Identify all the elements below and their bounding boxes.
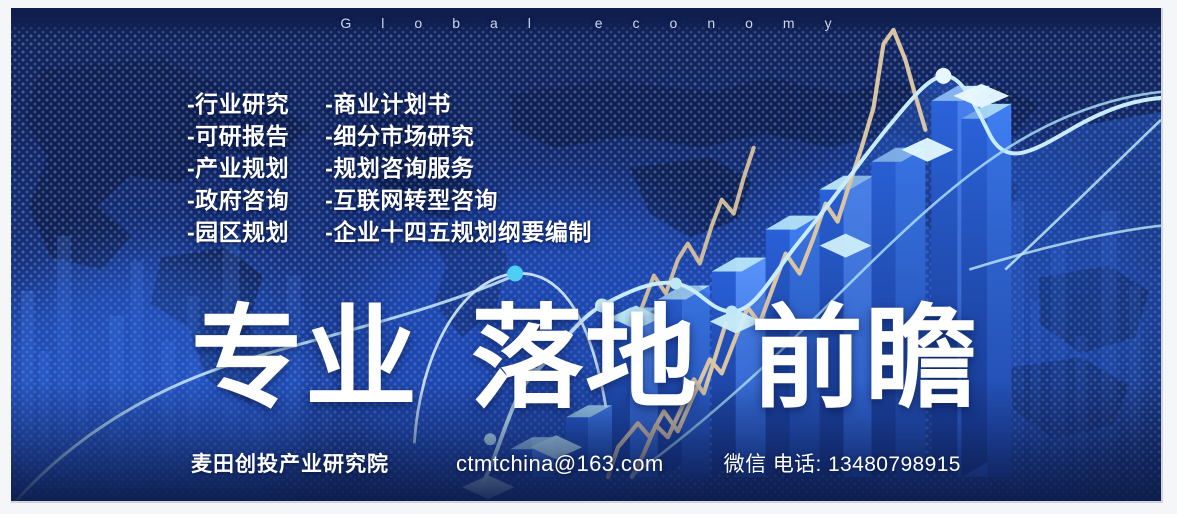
email-address: ctmtchina@163.com (456, 451, 664, 477)
headline-word: 落地 (471, 300, 699, 418)
service-item: -政府咨询 (187, 186, 289, 215)
service-item: -产业规划 (187, 154, 289, 183)
service-item: -园区规划 (187, 218, 289, 247)
service-item: -行业研究 (187, 90, 289, 119)
promotional-banner: Global economy -行业研究 -可研报告 -产业规划 -政府咨询 -… (11, 8, 1163, 503)
service-list-right: -商业计划书 -细分市场研究 -规划咨询服务 -互联网转型咨询 -企业十四五规划… (325, 90, 592, 247)
screenshot-canvas: Global economy -行业研究 -可研报告 -产业规划 -政府咨询 -… (0, 0, 1177, 514)
organization-name: 麦田创投产业研究院 (191, 448, 389, 478)
footer-contact-row: 麦田创投产业研究院 ctmtchina@163.com 微信 电话: 13480… (191, 448, 961, 478)
service-item: -商业计划书 (325, 90, 592, 119)
arc-node-dot (507, 266, 523, 282)
service-item: -细分市场研究 (325, 122, 592, 151)
top-label: Global economy (11, 15, 1161, 37)
service-item: -可研报告 (187, 122, 289, 151)
service-list-left: -行业研究 -可研报告 -产业规划 -政府咨询 -园区规划 (187, 90, 289, 247)
service-item: -企业十四五规划纲要编制 (325, 218, 592, 247)
service-item: -互联网转型咨询 (325, 186, 592, 215)
headline-word: 前瞻 (751, 300, 979, 418)
curve-node (935, 68, 951, 84)
contact-phone: 微信 电话: 13480798915 (724, 448, 961, 478)
curve-node (670, 278, 682, 290)
headline: 专业 落地 前瞻 (191, 300, 979, 418)
headline-word: 专业 (191, 300, 419, 418)
service-lists: -行业研究 -可研报告 -产业规划 -政府咨询 -园区规划 -商业计划书 -细分… (187, 90, 592, 247)
service-item: -规划咨询服务 (325, 154, 592, 183)
